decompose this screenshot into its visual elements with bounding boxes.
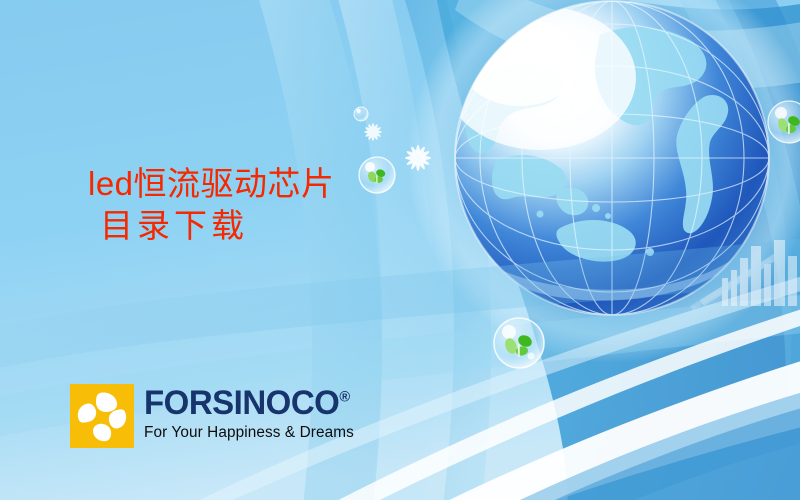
poster-canvas: led恒流驱动芯片 目录下载 FORSINOCO® For Your Happi… <box>0 0 800 500</box>
registered-trademark-mark: ® <box>339 389 350 406</box>
brand-wordmark-text: FORSINOCO <box>144 384 339 422</box>
headline-line-1: led恒流驱动芯片 <box>88 163 508 205</box>
pinwheel-petals <box>70 384 134 448</box>
bubble-pinwheel-icon <box>494 318 544 368</box>
brand-tagline: For Your Happiness & Dreams <box>144 425 354 441</box>
brand-logo-lockup: FORSINOCO® For Your Happiness & Dreams <box>70 384 356 448</box>
bubble-pinwheel-icon <box>768 101 800 143</box>
headline-line-2: 目录下载 <box>88 205 508 247</box>
brand-text-block: FORSINOCO® For Your Happiness & Dreams <box>144 384 356 441</box>
sparkle-icon <box>364 123 382 141</box>
headline-text: led恒流驱动芯片 目录下载 <box>88 163 508 247</box>
brand-wordmark: FORSINOCO® <box>144 386 350 420</box>
four-petal-pinwheel-icon <box>70 384 134 448</box>
bubble-icon <box>354 107 368 121</box>
